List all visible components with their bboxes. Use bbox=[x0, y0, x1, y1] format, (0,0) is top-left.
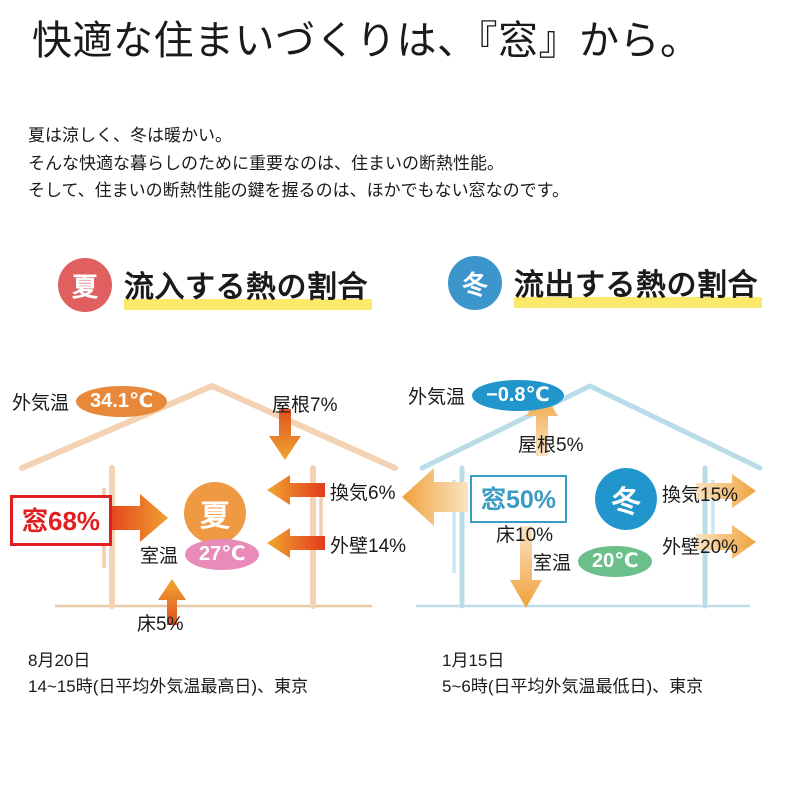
indoor-temp-label-winter: 室温 bbox=[533, 548, 571, 575]
wall-label-summer: 外壁14% bbox=[330, 531, 406, 558]
outdoor-temp-label-winter: 外気温 bbox=[408, 382, 465, 409]
window-ratio-winter: 窓50% bbox=[470, 475, 567, 523]
diagram-summer: 外気温 34.1℃ 屋根7% 換気6% 外壁14% 窓68% 夏 室温 27℃ … bbox=[0, 368, 400, 638]
indoor-temp-winter: 室温 20℃ bbox=[533, 546, 652, 577]
floor-label-summer: 床5% bbox=[137, 609, 183, 636]
caption-winter-line2: 5~6時(日平均外気温最低日)、東京 bbox=[442, 674, 703, 700]
indoor-temp-value-summer: 27℃ bbox=[185, 539, 259, 570]
caption-winter: 1月15日 5~6時(日平均外気温最低日)、東京 bbox=[442, 648, 703, 701]
season-badge-summer: 夏 bbox=[58, 258, 112, 312]
outdoor-temp-value-winter: −0.8℃ bbox=[472, 380, 564, 411]
infographic-page: 快適な住まいづくりは、『窓』から。 夏は涼しく、冬は暖かい。 そんな快適な暮らし… bbox=[0, 0, 800, 800]
diagram-winter: 外気温 −0.8℃ 屋根5% 窓50% 冬 換気15% 外壁20% 床10% 室… bbox=[400, 368, 800, 638]
caption-summer-line2: 14~15時(日平均外気温最高日)、東京 bbox=[28, 674, 308, 700]
outdoor-temp-value-summer: 34.1℃ bbox=[76, 386, 167, 417]
wall-label-winter: 外壁20% bbox=[662, 532, 738, 559]
caption-summer-line1: 8月20日 bbox=[28, 648, 308, 674]
section-title-summer: 流入する熱の割合 bbox=[122, 262, 370, 308]
caption-winter-line1: 1月15日 bbox=[442, 648, 703, 674]
outdoor-temp-winter: 外気温 −0.8℃ bbox=[408, 380, 564, 411]
season-mark-summer: 夏 bbox=[184, 482, 246, 544]
indoor-temp-label-summer: 室温 bbox=[140, 541, 178, 568]
vent-label-winter: 換気15% bbox=[662, 480, 738, 507]
lede-line-3: そして、住まいの断熱性能の鍵を握るのは、ほかでもない窓なのです。 bbox=[28, 177, 569, 205]
outdoor-temp-summer: 外気温 34.1℃ bbox=[12, 386, 167, 417]
roof-label-summer: 屋根7% bbox=[272, 390, 337, 417]
section-header-winter: 冬 流出する熱の割合 bbox=[448, 256, 760, 310]
roof-label-winter: 屋根5% bbox=[518, 430, 583, 457]
outdoor-temp-label-summer: 外気温 bbox=[12, 388, 69, 415]
window-ratio-summer: 窓68% bbox=[10, 495, 112, 546]
vent-label-summer: 換気6% bbox=[330, 478, 395, 505]
section-header-summer: 夏 流入する熱の割合 bbox=[58, 258, 370, 312]
lede-line-1: 夏は涼しく、冬は暖かい。 bbox=[28, 122, 569, 150]
indoor-temp-value-winter: 20℃ bbox=[578, 546, 652, 577]
section-title-winter: 流出する熱の割合 bbox=[512, 260, 760, 306]
lede-line-2: そんな快適な暮らしのために重要なのは、住まいの断熱性能。 bbox=[28, 150, 569, 178]
caption-summer: 8月20日 14~15時(日平均外気温最高日)、東京 bbox=[28, 648, 308, 701]
indoor-temp-summer: 室温 27℃ bbox=[140, 539, 259, 570]
page-title: 快適な住まいづくりは、『窓』から。 bbox=[32, 18, 701, 64]
floor-label-winter: 床10% bbox=[496, 520, 553, 547]
season-badge-winter: 冬 bbox=[448, 256, 502, 310]
lede-paragraph: 夏は涼しく、冬は暖かい。 そんな快適な暮らしのために重要なのは、住まいの断熱性能… bbox=[28, 122, 569, 205]
season-mark-winter: 冬 bbox=[595, 468, 657, 530]
